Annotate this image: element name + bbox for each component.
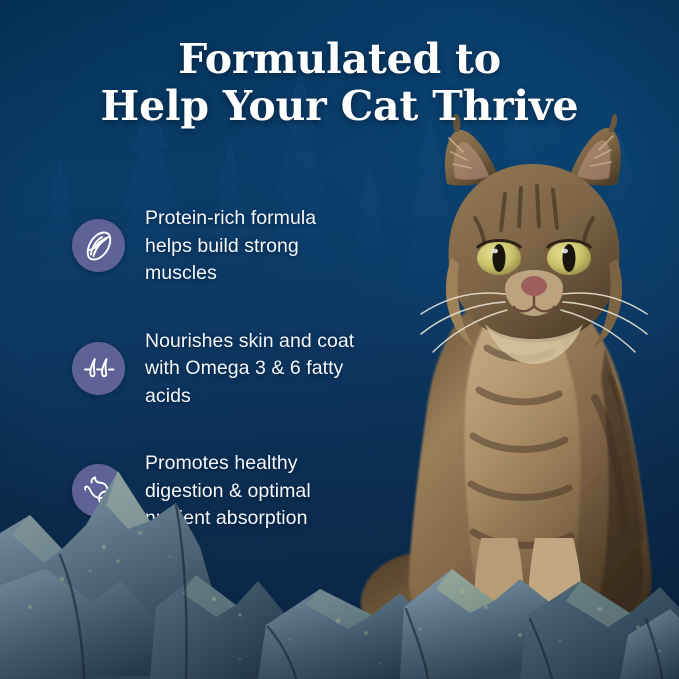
muscle-fiber-icon [72, 219, 125, 272]
hair-follicle-skin-coat-icon [72, 342, 125, 395]
headline-line-1: Formulated to [0, 36, 679, 83]
feature-item-protein: Protein-rich formula helps build strong … [72, 204, 362, 288]
feature-text-protein: Protein-rich formula helps build strong … [145, 204, 362, 288]
product-feature-image: Formulated to Help Your Cat Thrive Prote… [0, 0, 679, 679]
feature-text-skin-coat: Nourishes skin and coat with Omega 3 & 6… [145, 327, 362, 411]
page-title: Formulated to Help Your Cat Thrive [0, 36, 679, 130]
rock-foreground [0, 429, 679, 679]
feature-item-skin-coat: Nourishes skin and coat with Omega 3 & 6… [72, 327, 362, 411]
headline-line-2: Help Your Cat Thrive [0, 83, 679, 130]
